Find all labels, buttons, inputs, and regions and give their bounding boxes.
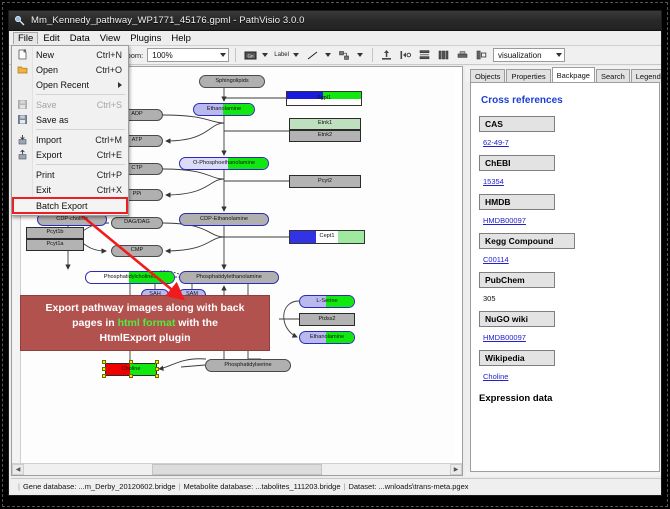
xref-header-nugo-wiki: NuGO wiki xyxy=(479,311,555,327)
node-label: Ethanolamine xyxy=(310,335,344,341)
node-label: Phosphatidylcholines xyxy=(104,275,157,281)
file-menu-item-new[interactable]: New Ctrl+N xyxy=(12,47,128,62)
selection-handle-sw[interactable] xyxy=(102,374,106,378)
status-gene-database-label: Gene database: xyxy=(23,482,76,491)
node-ethanolamine-2[interactable]: Ethanolamine xyxy=(299,331,355,344)
window-titlebar: Mm_Kennedy_pathway_WP1771_45176.gpml - P… xyxy=(9,11,661,31)
expression-data-heading: Expression data xyxy=(479,393,653,404)
tab-objects[interactable]: Objects xyxy=(470,69,505,83)
menu-plugins[interactable]: Plugins xyxy=(125,32,166,45)
scrollbar-thumb[interactable] xyxy=(152,464,322,475)
file-menu-label-new: New xyxy=(36,50,96,60)
xref-value-pubchem: 305 xyxy=(483,294,496,303)
node-cdp-ethanolamine[interactable]: CDP-Ethanolamine xyxy=(179,213,269,226)
visualization-combobox[interactable]: visualization xyxy=(493,48,565,62)
gene-product-dropdown-icon[interactable] xyxy=(262,53,268,57)
file-menu-label-open-recent: Open Recent xyxy=(36,80,118,90)
node-sgpl1[interactable]: Sgpl1 xyxy=(286,91,362,106)
file-menu-label-exit: Exit xyxy=(36,185,97,195)
file-menu-label-print: Print xyxy=(36,170,97,180)
selection-handle-ne[interactable] xyxy=(155,360,159,364)
interaction-dropdown-icon[interactable] xyxy=(357,53,363,57)
node-label: Ethanolamine xyxy=(207,107,241,113)
xref-value-wikipedia[interactable]: Choline xyxy=(483,372,508,381)
menu-help[interactable]: Help xyxy=(166,32,196,45)
node-label: ADP xyxy=(131,112,143,118)
submenu-arrow-icon xyxy=(118,82,122,88)
node-label: O-Phosphoethanolamine xyxy=(193,161,255,167)
save-as-icon xyxy=(15,113,29,126)
file-menu-accel-save: Ctrl+S xyxy=(97,100,128,110)
align-stack-tool-icon[interactable] xyxy=(417,48,433,63)
node-sphingolipids[interactable]: Sphingolipids xyxy=(199,75,265,88)
zoom-value: 100% xyxy=(152,51,172,60)
file-menu-item-exit[interactable]: Exit Ctrl+X xyxy=(12,182,128,197)
align-left-tool-icon[interactable] xyxy=(398,48,414,63)
screenshot-frame: Mm_Kennedy_pathway_WP1771_45176.gpml - P… xyxy=(0,0,670,509)
cross-references-heading: Cross references xyxy=(481,95,653,106)
file-menu-label-save-as: Save as xyxy=(36,115,122,125)
status-bar: | Gene database: ...m_Derby_20120602.bri… xyxy=(11,478,661,493)
status-sep-0: | xyxy=(18,482,20,491)
file-menu-accel-new: Ctrl+N xyxy=(96,50,128,60)
status-sep-2: | xyxy=(343,482,345,491)
menu-view[interactable]: View xyxy=(95,32,125,45)
menu-data[interactable]: Data xyxy=(65,32,95,45)
backpage-content: Cross references CAS 62-49-7 ChEBI 15354… xyxy=(470,82,660,472)
node-label: Phosphatidylethanolamine xyxy=(196,275,262,281)
file-menu-label-open: Open xyxy=(36,65,96,75)
selection-handle-w[interactable] xyxy=(102,367,106,371)
node-phosphatidylethanolamine[interactable]: Phosphatidylethanolamine xyxy=(179,271,279,284)
import-icon xyxy=(15,133,29,146)
same-width-tool-icon[interactable] xyxy=(455,48,471,63)
gene-product-tool-icon[interactable]: Gn xyxy=(242,48,258,63)
callout-line-2-pre: pages in xyxy=(72,317,118,329)
status-sep-1: | xyxy=(179,482,181,491)
node-label: L-Serine xyxy=(316,299,337,305)
node-label: DAG/DAG xyxy=(124,220,150,226)
file-menu-item-batch-export[interactable]: Batch Export xyxy=(12,197,128,214)
zoom-combobox[interactable]: 100% xyxy=(147,48,229,62)
xref-header-kegg-compound: Kegg Compound xyxy=(479,233,575,249)
node-phosphatidylserine[interactable]: Phosphatidylserine xyxy=(205,359,291,372)
node-phosphatidylcholines[interactable]: Phosphatidylcholines xyxy=(85,271,175,284)
node-label: Phosphatidylserine xyxy=(224,363,271,369)
xref-value-cas[interactable]: 62-49-7 xyxy=(483,138,509,147)
tab-properties[interactable]: Properties xyxy=(506,69,550,83)
node-pcyt1a[interactable]: Pcyt1a xyxy=(26,239,84,251)
file-menu-accel-exit: Ctrl+X xyxy=(97,185,128,195)
file-menu-label-export: Export xyxy=(36,150,97,160)
side-panel: Objects Properties Backpage Search Legen… xyxy=(465,66,661,476)
svg-text:Gn: Gn xyxy=(247,53,254,58)
tab-backpage[interactable]: Backpage xyxy=(552,67,595,83)
side-panel-tabs: Objects Properties Backpage Search Legen… xyxy=(470,68,660,83)
status-gene-database-value: ...m_Derby_20120602.bridge xyxy=(78,482,175,491)
scroll-right-arrow-icon[interactable]: ▶ xyxy=(450,464,462,475)
tab-legend[interactable]: Legend xyxy=(631,69,662,83)
node-label: Sgpl1 xyxy=(317,96,331,102)
xref-value-chebi[interactable]: 15354 xyxy=(483,177,504,186)
file-menu-separator-1 xyxy=(36,94,125,95)
file-menu-label-import: Import xyxy=(36,135,95,145)
node-label: CDP-Ethanolamine xyxy=(200,217,248,223)
file-menu-accel-import: Ctrl+M xyxy=(95,135,128,145)
node-label: Etnk2 xyxy=(318,133,332,139)
export-icon xyxy=(15,148,29,161)
scrollbar-track[interactable] xyxy=(24,464,450,475)
pathvisio-application-window: Mm_Kennedy_pathway_WP1771_45176.gpml - P… xyxy=(8,10,662,496)
node-pcyt1b[interactable]: Pcyt1b xyxy=(26,227,84,239)
callout-line-2-post: with the xyxy=(175,317,218,329)
xref-value-kegg-compound[interactable]: C00114 xyxy=(483,255,509,264)
file-menu-item-open[interactable]: Open Ctrl+O xyxy=(12,62,128,77)
file-menu-label-batch-export: Batch Export xyxy=(36,201,126,211)
node-label: Pcyt1b xyxy=(46,230,63,236)
file-menu-accel-print: Ctrl+P xyxy=(97,170,128,180)
selection-handle-s[interactable] xyxy=(129,374,133,378)
status-dataset-value: ...wnloads\trans-meta.pgex xyxy=(378,482,468,491)
node-label: CTP xyxy=(131,166,142,172)
selection-handle-e[interactable] xyxy=(155,367,159,371)
file-menu-accel-export: Ctrl+E xyxy=(97,150,128,160)
node-label: Choline xyxy=(122,367,141,373)
canvas-horizontal-scrollbar[interactable]: ◀ ▶ xyxy=(12,463,462,475)
callout-line-3: HtmlExport plugin xyxy=(100,332,191,344)
node-etnk2[interactable]: Etnk2 xyxy=(289,130,361,142)
node-label: ATP xyxy=(132,138,142,144)
xref-value-nugo-wiki[interactable]: HMDB00097 xyxy=(483,333,526,342)
file-menu-separator-2 xyxy=(36,129,125,130)
callout-line-2-highlight: html format xyxy=(118,317,176,329)
file-menu-item-save-as[interactable]: Save as xyxy=(12,112,128,127)
align-center-tool-icon[interactable] xyxy=(436,48,452,63)
node-label: Cept1 xyxy=(320,234,335,240)
node-label: CMP xyxy=(131,248,143,254)
open-folder-icon xyxy=(15,63,29,76)
window-title: Mm_Kennedy_pathway_WP1771_45176.gpml - P… xyxy=(31,15,305,26)
menubar: File Edit Data View Plugins Help xyxy=(9,31,661,46)
node-l-serine[interactable]: L-Serine xyxy=(299,295,355,308)
node-label: PPi xyxy=(133,192,142,198)
file-menu-item-save[interactable]: Save Ctrl+S xyxy=(12,97,128,112)
node-label: Pcyt2 xyxy=(318,179,332,185)
interaction-tool-icon[interactable] xyxy=(337,48,353,63)
toolbar-divider xyxy=(235,48,236,62)
visualization-value: visualization xyxy=(498,51,542,60)
menu-file[interactable]: File xyxy=(13,32,38,44)
node-label: Ptdss2 xyxy=(318,317,335,323)
node-label: CDP-choline xyxy=(56,217,87,223)
pathvisio-app-icon xyxy=(14,15,26,27)
label-tool-label[interactable]: Label xyxy=(274,52,289,58)
node-label: Pcyt1a xyxy=(46,242,63,248)
file-menu-label-save: Save xyxy=(36,100,97,110)
node-label: Sphingolipids xyxy=(215,79,248,85)
line-tool-icon[interactable] xyxy=(305,48,321,63)
xref-header-hmdb: HMDB xyxy=(479,194,555,210)
file-menu-item-import[interactable]: Import Ctrl+M xyxy=(12,132,128,147)
node-etnk1[interactable]: Etnk1 xyxy=(289,118,361,130)
xref-header-wikipedia: Wikipedia xyxy=(479,350,555,366)
chevron-down-icon xyxy=(220,53,226,57)
label-dropdown-icon[interactable] xyxy=(293,53,299,57)
new-document-icon xyxy=(15,48,29,61)
scroll-left-arrow-icon[interactable]: ◀ xyxy=(12,464,24,475)
xref-value-hmdb[interactable]: HMDB00097 xyxy=(483,216,526,225)
node-dag[interactable]: DAG/DAG xyxy=(111,217,163,229)
chevron-down-icon-2 xyxy=(556,53,562,57)
file-menu-accel-open: Ctrl+O xyxy=(96,65,128,75)
status-dataset-label: Dataset: xyxy=(348,482,376,491)
line-dropdown-icon[interactable] xyxy=(325,53,331,57)
file-menu-item-open-recent[interactable]: Open Recent xyxy=(12,77,128,92)
node-cept1[interactable]: Cept1 xyxy=(289,230,365,244)
node-ptdss2[interactable]: Ptdss2 xyxy=(299,313,355,326)
align-top-tool-icon[interactable] xyxy=(379,48,395,63)
file-menu-item-print[interactable]: Print Ctrl+P xyxy=(12,167,128,182)
xref-header-cas: CAS xyxy=(479,116,555,132)
save-disk-icon xyxy=(15,98,29,111)
status-metabolite-database-label: Metabolite database: xyxy=(184,482,254,491)
node-cmp[interactable]: CMP xyxy=(111,245,163,257)
same-height-tool-icon[interactable] xyxy=(474,48,490,63)
menu-edit[interactable]: Edit xyxy=(38,32,64,45)
toolbar-divider-2 xyxy=(372,48,373,62)
node-ethanolamine-1[interactable]: Ethanolamine xyxy=(193,103,255,116)
node-label: Etnk1 xyxy=(318,121,332,127)
node-pcyt2[interactable]: Pcyt2 xyxy=(289,175,361,188)
selection-handle-n[interactable] xyxy=(129,360,133,364)
cept1-blue-bar xyxy=(290,231,316,243)
file-menu-item-export[interactable]: Export Ctrl+E xyxy=(12,147,128,162)
xref-header-pubchem: PubChem xyxy=(479,272,555,288)
status-metabolite-database-value: ...tabolites_111203.bridge xyxy=(255,482,340,491)
selection-handle-nw[interactable] xyxy=(102,360,106,364)
cept1-green-bar xyxy=(338,231,364,243)
xref-header-chebi: ChEBI xyxy=(479,155,555,171)
file-menu-dropdown[interactable]: New Ctrl+N Open Ctrl+O Open Recent xyxy=(11,45,129,216)
selection-handle-se[interactable] xyxy=(155,374,159,378)
callout-line-1: Export pathway images along with back xyxy=(46,302,245,314)
annotation-callout: Export pathway images along with back pa… xyxy=(20,295,270,351)
file-menu-separator-3 xyxy=(36,164,125,165)
node-o-phosphoethanolamine[interactable]: O-Phosphoethanolamine xyxy=(179,157,269,170)
tab-search[interactable]: Search xyxy=(596,69,630,83)
